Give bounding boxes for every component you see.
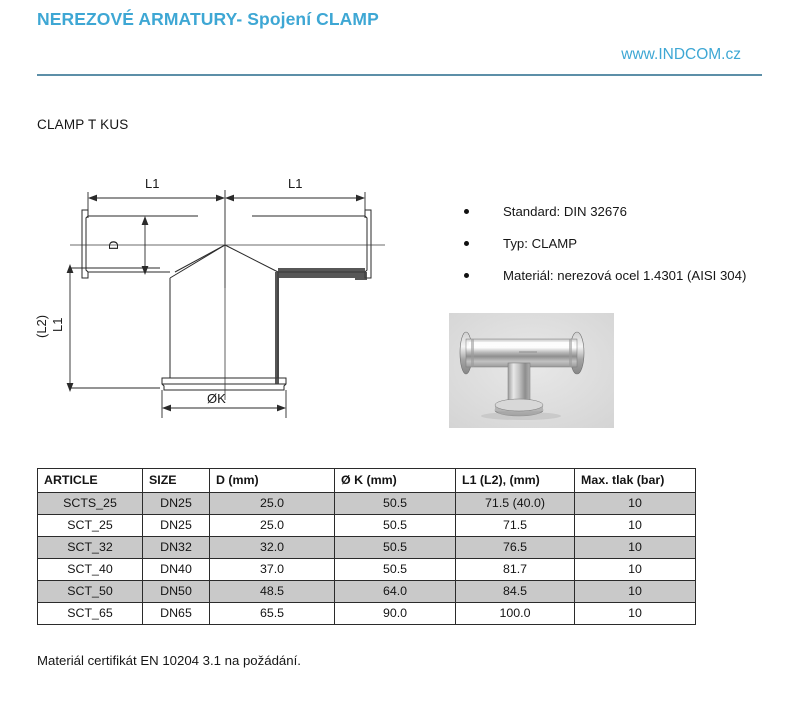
table-row: SCT_25 DN25 25.0 50.5 71.5 10 xyxy=(38,515,696,537)
dimension-label-l1-right: L1 xyxy=(288,176,302,191)
cell-k: 50.5 xyxy=(335,559,456,581)
cell-article: SCT_65 xyxy=(38,603,143,625)
product-photo-illustration xyxy=(449,313,614,428)
cell-d: 48.5 xyxy=(210,581,335,603)
specification-table: ARTICLE SIZE D (mm) Ø K (mm) L1 (L2), (m… xyxy=(37,468,696,625)
list-item: Materiál: nerezová ocel 1.4301 (AISI 304… xyxy=(455,268,795,283)
column-header-pressure: Max. tlak (bar) xyxy=(575,469,696,493)
table-header-row: ARTICLE SIZE D (mm) Ø K (mm) L1 (L2), (m… xyxy=(38,469,696,493)
cell-l1: 84.5 xyxy=(456,581,575,603)
cell-pressure: 10 xyxy=(575,559,696,581)
tee-branch-body xyxy=(162,245,286,390)
dimension-label-l1-vertical: L1 xyxy=(50,318,65,332)
dimension-label-l2-vertical: (L2) xyxy=(34,315,49,338)
cell-k: 90.0 xyxy=(335,603,456,625)
column-header-l1: L1 (L2), (mm) xyxy=(456,469,575,493)
specification-list: Standard: DIN 32676 Typ: CLAMP Materiál:… xyxy=(455,204,795,300)
cell-article: SCT_40 xyxy=(38,559,143,581)
cell-d: 25.0 xyxy=(210,493,335,515)
table-head: ARTICLE SIZE D (mm) Ø K (mm) L1 (L2), (m… xyxy=(38,469,696,493)
cell-k: 50.5 xyxy=(335,515,456,537)
photo-shadow xyxy=(481,412,561,420)
product-photo xyxy=(449,313,614,428)
dimension-l1-l2-vertical xyxy=(67,264,160,392)
cell-pressure: 10 xyxy=(575,603,696,625)
section-title: CLAMP T KUS xyxy=(37,117,129,132)
spec-item-label: Materiál: nerezová ocel 1.4301 (AISI 304… xyxy=(503,268,746,283)
column-header-d: D (mm) xyxy=(210,469,335,493)
table-row: SCT_40 DN40 37.0 50.5 81.7 10 xyxy=(38,559,696,581)
dimension-d xyxy=(142,216,149,275)
cell-size: DN32 xyxy=(143,537,210,559)
section-hatch xyxy=(275,268,367,384)
cell-l1: 100.0 xyxy=(456,603,575,625)
cell-k: 64.0 xyxy=(335,581,456,603)
list-item: Typ: CLAMP xyxy=(455,236,795,251)
spec-item-label: Standard: DIN 32676 xyxy=(503,204,627,219)
table-row: SCT_50 DN50 48.5 64.0 84.5 10 xyxy=(38,581,696,603)
table-body: SCTS_25 DN25 25.0 50.5 71.5 (40.0) 10 SC… xyxy=(38,493,696,625)
left-collar xyxy=(471,339,474,367)
cell-l1: 71.5 xyxy=(456,515,575,537)
dimension-label-d: D xyxy=(106,241,121,250)
list-item: Standard: DIN 32676 xyxy=(455,204,795,219)
table-row: SCT_32 DN32 32.0 50.5 76.5 10 xyxy=(38,537,696,559)
cell-l1: 81.7 xyxy=(456,559,575,581)
dimension-label-ok: ØK xyxy=(207,391,226,406)
bullet-icon xyxy=(464,273,469,278)
bottom-flange-face xyxy=(495,399,543,411)
cell-d: 25.0 xyxy=(210,515,335,537)
cell-pressure: 10 xyxy=(575,581,696,603)
table-row: SCTS_25 DN25 25.0 50.5 71.5 (40.0) 10 xyxy=(38,493,696,515)
cell-size: DN25 xyxy=(143,515,210,537)
page-title: NEREZOVÉ ARMATURY- Spojení CLAMP xyxy=(37,9,379,30)
cell-article: SCT_32 xyxy=(38,537,143,559)
cell-l1: 76.5 xyxy=(456,537,575,559)
cell-pressure: 10 xyxy=(575,537,696,559)
engraving-mark xyxy=(519,351,537,353)
right-collar xyxy=(569,339,572,367)
column-header-article: ARTICLE xyxy=(38,469,143,493)
cell-size: DN40 xyxy=(143,559,210,581)
dimension-label-l1-left: L1 xyxy=(145,176,159,191)
document-header: NEREZOVÉ ARMATURY- Spojení CLAMP www.IND… xyxy=(0,0,799,86)
bullet-icon xyxy=(464,241,469,246)
cell-article: SCT_50 xyxy=(38,581,143,603)
cell-l1: 71.5 (40.0) xyxy=(456,493,575,515)
header-divider xyxy=(37,74,762,76)
cell-size: DN25 xyxy=(143,493,210,515)
cell-article: SCTS_25 xyxy=(38,493,143,515)
cell-size: DN50 xyxy=(143,581,210,603)
cell-pressure: 10 xyxy=(575,515,696,537)
cell-d: 37.0 xyxy=(210,559,335,581)
tube-highlight xyxy=(469,342,574,346)
column-header-size: SIZE xyxy=(143,469,210,493)
company-website-link[interactable]: www.INDCOM.cz xyxy=(621,46,741,64)
tee-cross-section-svg: L1 L1 xyxy=(30,160,430,430)
cell-k: 50.5 xyxy=(335,537,456,559)
column-header-k: Ø K (mm) xyxy=(335,469,456,493)
cell-article: SCT_25 xyxy=(38,515,143,537)
cell-pressure: 10 xyxy=(575,493,696,515)
bullet-icon xyxy=(464,209,469,214)
technical-drawing: L1 L1 xyxy=(30,160,430,430)
footer-note: Materiál certifikát EN 10204 3.1 na požá… xyxy=(37,653,301,668)
cell-k: 50.5 xyxy=(335,493,456,515)
table-row: SCT_65 DN65 65.5 90.0 100.0 10 xyxy=(38,603,696,625)
cell-d: 32.0 xyxy=(210,537,335,559)
specification-table-wrapper: ARTICLE SIZE D (mm) Ø K (mm) L1 (L2), (m… xyxy=(37,468,696,625)
spec-item-label: Typ: CLAMP xyxy=(503,236,577,251)
cell-size: DN65 xyxy=(143,603,210,625)
cell-d: 65.5 xyxy=(210,603,335,625)
